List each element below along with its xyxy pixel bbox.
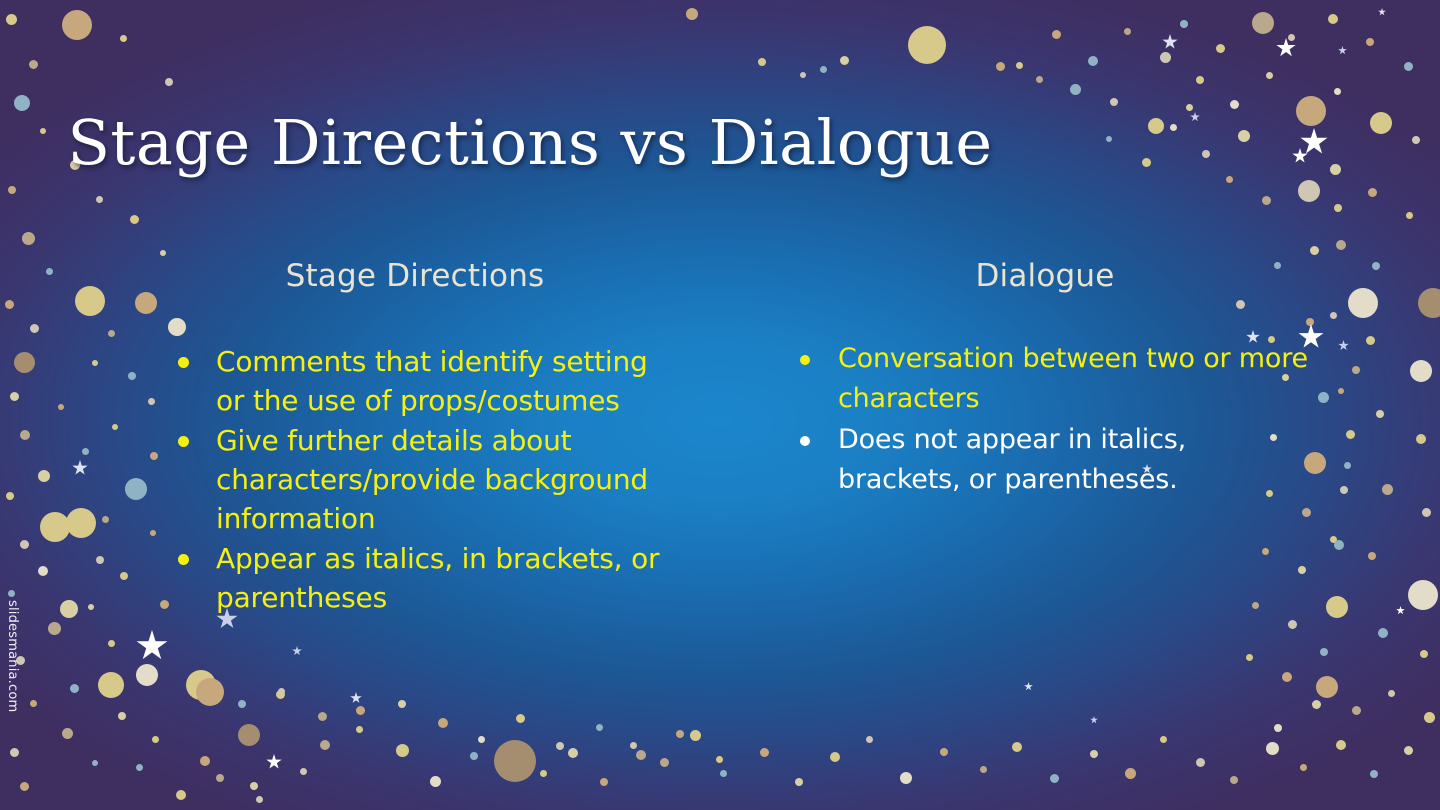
confetti-dot-icon — [130, 215, 139, 224]
confetti-dot-icon — [676, 730, 684, 738]
confetti-dot-icon — [1252, 12, 1274, 34]
list-item-text: Appear as italics, in brackets, or paren… — [216, 542, 659, 614]
confetti-dot-icon — [88, 604, 94, 610]
list-item-text: Give further details about characters/pr… — [216, 424, 648, 535]
confetti-dot-icon — [1344, 462, 1351, 469]
confetti-dot-icon — [820, 66, 827, 73]
confetti-dot-icon — [1090, 750, 1098, 758]
confetti-dot-icon — [256, 796, 263, 803]
confetti-dot-icon — [250, 782, 258, 790]
confetti-dot-icon — [596, 724, 603, 731]
confetti-dot-icon — [1370, 112, 1392, 134]
confetti-dot-icon — [120, 572, 128, 580]
confetti-star-icon — [1292, 148, 1308, 164]
confetti-dot-icon — [1282, 672, 1292, 682]
confetti-dot-icon — [720, 770, 727, 777]
confetti-dot-icon — [38, 470, 50, 482]
list-item: Comments that identify setting or the us… — [150, 342, 680, 420]
confetti-dot-icon — [1160, 52, 1171, 63]
bullet-dot-icon — [178, 357, 189, 368]
confetti-dot-icon — [30, 700, 37, 707]
confetti-dot-icon — [1340, 604, 1347, 611]
confetti-dot-icon — [300, 768, 307, 775]
confetti-dot-icon — [5, 300, 14, 309]
confetti-dot-icon — [318, 712, 327, 721]
confetti-star-icon — [350, 692, 362, 704]
confetti-dot-icon — [1418, 288, 1440, 318]
confetti-dot-icon — [1296, 96, 1326, 126]
confetti-dot-icon — [1106, 136, 1112, 142]
confetti-dot-icon — [160, 250, 166, 256]
page-title: Stage Directions vs Dialogue — [0, 106, 1060, 179]
confetti-dot-icon — [1412, 136, 1420, 144]
confetti-dot-icon — [238, 724, 260, 746]
confetti-dot-icon — [1330, 536, 1337, 543]
confetti-dot-icon — [1160, 736, 1167, 743]
confetti-dot-icon — [1288, 34, 1295, 41]
confetti-dot-icon — [128, 372, 136, 380]
confetti-dot-icon — [92, 760, 98, 766]
confetti-dot-icon — [600, 778, 608, 786]
confetti-dot-icon — [996, 62, 1005, 71]
confetti-star-icon — [1024, 682, 1033, 691]
confetti-dot-icon — [1262, 196, 1271, 205]
confetti-dot-icon — [516, 714, 525, 723]
bullet-dot-icon — [800, 436, 810, 446]
confetti-dot-icon — [1186, 104, 1193, 111]
confetti-dot-icon — [58, 404, 64, 410]
confetti-dot-icon — [1246, 654, 1253, 661]
confetti-dot-icon — [1288, 620, 1297, 629]
confetti-dot-icon — [1300, 764, 1307, 771]
confetti-dot-icon — [630, 742, 637, 749]
confetti-dot-icon — [1416, 434, 1426, 444]
confetti-dot-icon — [690, 730, 701, 741]
confetti-dot-icon — [20, 540, 29, 549]
confetti-dot-icon — [176, 790, 186, 800]
confetti-dot-icon — [1338, 388, 1344, 394]
list-item: Appear as italics, in brackets, or paren… — [150, 539, 680, 617]
confetti-dot-icon — [1202, 150, 1210, 158]
confetti-dot-icon — [278, 688, 285, 695]
confetti-dot-icon — [1406, 212, 1413, 219]
confetti-dot-icon — [1330, 164, 1341, 175]
confetti-dot-icon — [1148, 118, 1164, 134]
confetti-dot-icon — [356, 706, 365, 715]
bullet-dot-icon — [800, 355, 810, 365]
confetti-dot-icon — [70, 684, 79, 693]
confetti-dot-icon — [29, 60, 38, 69]
confetti-dot-icon — [1016, 62, 1023, 69]
confetti-dot-icon — [540, 770, 547, 777]
confetti-dot-icon — [1230, 100, 1239, 109]
confetti-dot-icon — [1238, 130, 1250, 142]
confetti-dot-icon — [10, 392, 19, 401]
confetti-dot-icon — [1366, 38, 1374, 46]
confetti-dot-icon — [1410, 360, 1432, 382]
confetti-dot-icon — [165, 78, 173, 86]
confetti-dot-icon — [1348, 288, 1378, 318]
confetti-dot-icon — [6, 14, 17, 25]
confetti-dot-icon — [1368, 552, 1376, 560]
confetti-dot-icon — [1110, 98, 1118, 106]
confetti-dot-icon — [46, 268, 53, 275]
confetti-dot-icon — [75, 286, 105, 316]
confetti-dot-icon — [1310, 246, 1319, 255]
confetti-dot-icon — [1334, 204, 1342, 212]
confetti-dot-icon — [1352, 366, 1360, 374]
confetti-dot-icon — [1012, 742, 1022, 752]
confetti-dot-icon — [62, 10, 92, 40]
confetti-dot-icon — [356, 726, 363, 733]
confetti-dot-icon — [1376, 410, 1384, 418]
confetti-dot-icon — [1334, 540, 1344, 550]
column-stage-directions: Stage Directions Comments that identify … — [150, 258, 680, 618]
confetti-dot-icon — [660, 758, 669, 767]
confetti-dot-icon — [1266, 72, 1273, 79]
confetti-dot-icon — [636, 750, 646, 760]
confetti-dot-icon — [1366, 336, 1375, 345]
confetti-star-icon — [1378, 8, 1386, 16]
confetti-dot-icon — [1274, 724, 1282, 732]
confetti-dot-icon — [1266, 742, 1279, 755]
confetti-dot-icon — [1408, 580, 1438, 610]
confetti-dot-icon — [1422, 508, 1431, 517]
confetti-dot-icon — [800, 72, 806, 78]
confetti-dot-icon — [62, 728, 73, 739]
confetti-dot-icon — [1196, 76, 1204, 84]
confetti-dot-icon — [398, 700, 406, 708]
confetti-dot-icon — [940, 748, 948, 756]
confetti-dot-icon — [1230, 776, 1238, 784]
bullet-list-stage-directions: Comments that identify setting or the us… — [150, 342, 680, 617]
confetti-dot-icon — [1382, 484, 1393, 495]
confetti-dot-icon — [760, 748, 769, 757]
confetti-dot-icon — [1404, 62, 1413, 71]
confetti-dot-icon — [1318, 392, 1329, 403]
list-item: Conversation between two or more charact… — [780, 339, 1310, 419]
confetti-dot-icon — [1328, 14, 1338, 24]
confetti-dot-icon — [1330, 312, 1337, 319]
confetti-dot-icon — [66, 508, 96, 538]
confetti-dot-icon — [200, 756, 210, 766]
confetti-dot-icon — [1424, 712, 1435, 723]
confetti-star-icon — [292, 646, 302, 656]
confetti-dot-icon — [1326, 596, 1348, 618]
confetti-dot-icon — [1370, 770, 1378, 778]
confetti-dot-icon — [112, 424, 118, 430]
confetti-dot-icon — [136, 764, 143, 771]
confetti-dot-icon — [1196, 758, 1205, 767]
confetti-dot-icon — [216, 774, 224, 782]
confetti-dot-icon — [320, 740, 330, 750]
confetti-star-icon — [136, 630, 168, 662]
confetti-dot-icon — [1334, 88, 1341, 95]
confetti-dot-icon — [1312, 700, 1321, 709]
confetti-dot-icon — [1125, 768, 1136, 779]
confetti-dot-icon — [758, 58, 766, 66]
confetti-dot-icon — [1124, 28, 1131, 35]
confetti-dot-icon — [686, 8, 698, 20]
confetti-dot-icon — [96, 556, 104, 564]
confetti-dot-icon — [1352, 706, 1361, 715]
confetti-dot-icon — [20, 782, 29, 791]
confetti-dot-icon — [1180, 20, 1188, 28]
confetti-dot-icon — [1378, 628, 1388, 638]
confetti-star-icon — [1090, 716, 1098, 724]
list-item-text: Comments that identify setting or the us… — [216, 345, 648, 417]
confetti-dot-icon — [908, 26, 946, 64]
confetti-dot-icon — [6, 492, 14, 500]
confetti-dot-icon — [900, 772, 912, 784]
confetti-dot-icon — [92, 360, 98, 366]
confetti-dot-icon — [102, 516, 109, 523]
confetti-dot-icon — [108, 330, 115, 337]
confetti-star-icon — [1338, 340, 1349, 351]
confetti-dot-icon — [14, 352, 35, 373]
list-item-text: Does not appear in italics, brackets, or… — [838, 424, 1186, 495]
confetti-star-icon — [1396, 606, 1405, 615]
confetti-dot-icon — [716, 756, 723, 763]
confetti-dot-icon — [1226, 176, 1233, 183]
confetti-dot-icon — [830, 752, 840, 762]
confetti-star-icon — [1300, 128, 1328, 156]
confetti-dot-icon — [98, 672, 124, 698]
confetti-dot-icon — [108, 640, 115, 647]
list-item: Does not appear in italics, brackets, or… — [780, 420, 1310, 500]
confetti-dot-icon — [96, 196, 103, 203]
confetti-dot-icon — [1388, 690, 1395, 697]
confetti-dot-icon — [276, 690, 285, 699]
confetti-dot-icon — [1336, 240, 1346, 250]
confetti-dot-icon — [1298, 180, 1320, 202]
confetti-dot-icon — [196, 678, 224, 706]
confetti-dot-icon — [152, 736, 159, 743]
confetti-dot-icon — [22, 232, 35, 245]
confetti-dot-icon — [1088, 56, 1098, 66]
confetti-dot-icon — [1336, 740, 1346, 750]
confetti-dot-icon — [980, 766, 987, 773]
list-item-text: Conversation between two or more charact… — [838, 343, 1308, 414]
confetti-dot-icon — [438, 718, 448, 728]
column-heading-stage-directions: Stage Directions — [150, 258, 680, 294]
confetti-dot-icon — [568, 748, 578, 758]
confetti-star-icon — [72, 460, 88, 476]
confetti-dot-icon — [186, 670, 216, 700]
list-item: Give further details about characters/pr… — [150, 421, 680, 538]
confetti-dot-icon — [1404, 746, 1413, 755]
slide-canvas: slidesmania.com Stage Directions vs Dial… — [0, 0, 1440, 810]
confetti-dot-icon — [1052, 30, 1061, 39]
confetti-dot-icon — [1346, 430, 1355, 439]
confetti-dot-icon — [494, 740, 536, 782]
confetti-dot-icon — [48, 622, 61, 635]
confetti-dot-icon — [1340, 486, 1348, 494]
column-dialogue: Dialogue Conversation between two or mor… — [780, 258, 1310, 618]
confetti-dot-icon — [556, 742, 564, 750]
confetti-dot-icon — [396, 744, 409, 757]
confetti-dot-icon — [1036, 76, 1043, 83]
confetti-dot-icon — [60, 600, 78, 618]
confetti-dot-icon — [118, 712, 126, 720]
confetti-dot-icon — [866, 736, 873, 743]
confetti-dot-icon — [40, 512, 70, 542]
confetti-star-icon — [1190, 112, 1200, 122]
slidesmania-watermark: slidesmania.com — [2, 600, 20, 712]
column-heading-dialogue: Dialogue — [780, 258, 1310, 294]
confetti-dot-icon — [1372, 262, 1380, 270]
confetti-dot-icon — [125, 478, 147, 500]
confetti-dot-icon — [30, 324, 39, 333]
confetti-dot-icon — [38, 566, 48, 576]
confetti-dot-icon — [1368, 188, 1377, 197]
confetti-dot-icon — [1142, 158, 1151, 167]
confetti-star-icon — [1276, 38, 1296, 58]
confetti-dot-icon — [478, 736, 485, 743]
confetti-dot-icon — [1420, 650, 1428, 658]
confetti-dot-icon — [1216, 44, 1225, 53]
confetti-dot-icon — [238, 700, 246, 708]
confetti-star-icon — [1338, 46, 1347, 55]
confetti-dot-icon — [10, 748, 19, 757]
confetti-dot-icon — [20, 430, 30, 440]
confetti-dot-icon — [840, 56, 849, 65]
confetti-dot-icon — [82, 448, 89, 455]
confetti-dot-icon — [136, 664, 158, 686]
confetti-dot-icon — [1320, 648, 1328, 656]
bullet-dot-icon — [178, 554, 189, 565]
two-column-body: Stage Directions Comments that identify … — [150, 258, 1310, 618]
confetti-dot-icon — [1070, 84, 1081, 95]
confetti-dot-icon — [1050, 774, 1059, 783]
confetti-dot-icon — [795, 778, 803, 786]
confetti-dot-icon — [120, 35, 127, 42]
confetti-dot-icon — [470, 752, 478, 760]
confetti-dot-icon — [430, 776, 441, 787]
confetti-star-icon — [266, 754, 282, 770]
confetti-dot-icon — [8, 590, 15, 597]
confetti-dot-icon — [8, 186, 16, 194]
bullet-list-dialogue: Conversation between two or more charact… — [780, 339, 1310, 500]
confetti-dot-icon — [1316, 676, 1338, 698]
confetti-dot-icon — [1170, 124, 1177, 131]
confetti-star-icon — [1162, 34, 1178, 50]
bullet-dot-icon — [178, 436, 189, 447]
